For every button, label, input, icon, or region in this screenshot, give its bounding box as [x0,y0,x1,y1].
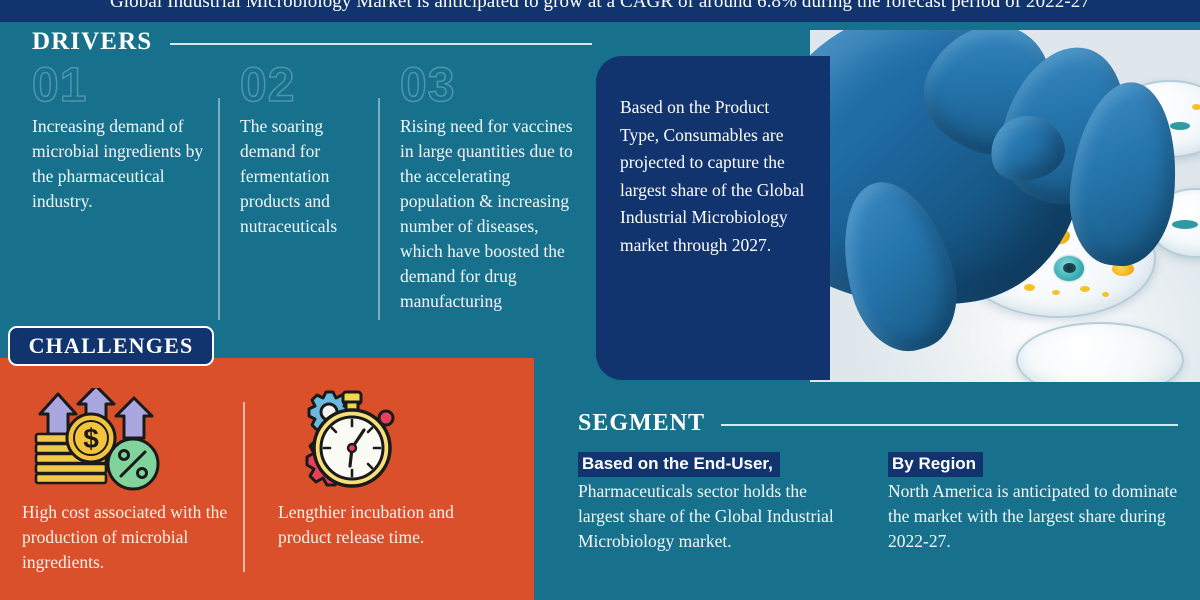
product-type-card: Based on the Product Type, Consumables a… [596,56,830,380]
drivers-heading: DRIVERS [32,28,592,56]
driver-number-02: 02 [240,62,364,114]
coins-growth-icon: $ [14,388,164,492]
drivers-rule [170,43,592,45]
driver-text-02: The soaring demand for fermentation prod… [240,114,364,239]
challenge-text-1: High cost associated with the production… [22,500,232,575]
segment-heading: SEGMENT [578,410,1178,437]
segment-column-end-user: Based on the End-User, Pharmaceuticals s… [578,452,848,554]
driver-number-03: 03 [400,62,578,114]
segment-tag-end-user: Based on the End-User, [578,452,780,477]
challenges-title: CHALLENGES [29,333,194,359]
challenges-badge: CHALLENGES [8,326,214,366]
segment-tag-region: By Region [888,452,983,477]
driver-text-03: Rising need for vaccines in large quanti… [400,114,578,314]
banner-headline: Global Industrial Microbiology Market is… [110,0,1090,13]
petri-dish-photo [810,30,1200,382]
driver-text-01: Increasing demand of microbial ingredien… [32,114,204,214]
driver-number-01: 01 [32,62,204,114]
segment-rule [721,424,1178,426]
infographic-root: Global Industrial Microbiology Market is… [0,0,1200,600]
challenges-divider [243,402,245,572]
segment-title: SEGMENT [578,410,705,437]
segment-body-end-user: Pharmaceuticals sector holds the largest… [578,479,848,554]
stopwatch-gears-icon [288,386,408,494]
segment-column-region: By Region North America is anticipated t… [888,452,1178,554]
challenge-item-1: High cost associated with the production… [22,500,232,575]
driver-item-01: 01 Increasing demand of microbial ingred… [32,62,218,324]
product-type-text: Based on the Product Type, Consumables a… [620,94,812,259]
svg-text:$: $ [83,423,99,454]
challenge-text-2: Lengthier incubation and product release… [278,500,488,550]
challenge-item-2: Lengthier incubation and product release… [278,500,488,550]
segment-body-region: North America is anticipated to dominate… [888,479,1178,554]
driver-item-03: 03 Rising need for vaccines in large qua… [378,62,592,324]
driver-item-02: 02 The soaring demand for fermentation p… [218,62,378,324]
drivers-title: DRIVERS [32,28,152,56]
drivers-columns: 01 Increasing demand of microbial ingred… [32,62,592,324]
top-banner: Global Industrial Microbiology Market is… [0,0,1200,22]
